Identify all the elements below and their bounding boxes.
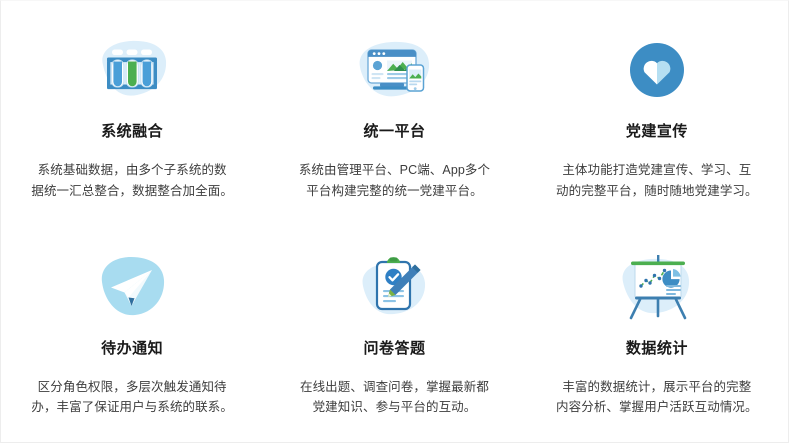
- feature-description-line: 据统一汇总整合，数据整合加全面。: [31, 181, 233, 202]
- feature-grid: 系统融合 系统基础数据，由多个子系统的数 据统一汇总整合，数据整合加全面。: [1, 1, 788, 442]
- feature-description: 系统由管理平台、PC端、App多个 平台构建完整的统一党建平台。: [299, 160, 490, 201]
- feature-description: 系统基础数据，由多个子系统的数 据统一汇总整合，数据整合加全面。: [31, 160, 233, 201]
- feature-card-unified-platform[interactable]: 统一平台 系统由管理平台、PC端、App多个 平台构建完整的统一党建平台。: [263, 1, 525, 222]
- feature-description-line: 动的完整平台，随时随地党建学习。: [556, 181, 758, 202]
- feature-card-todo-notification[interactable]: 待办通知 区分角色权限，多层次触发通知待 办，丰富了保证用户与系统的联系。: [1, 222, 263, 443]
- paper-plane-icon: [97, 250, 167, 324]
- feature-title: 统一平台: [363, 123, 425, 141]
- chart-easel-icon: [618, 250, 696, 324]
- unified-platform-devices-icon: [354, 33, 434, 107]
- feature-description-line: 区分角色权限，多层次触发通知待: [31, 377, 233, 398]
- heart-circle-icon: [628, 33, 686, 107]
- feature-description-line: 主体功能打造党建宣传、学习、互: [556, 160, 758, 181]
- feature-title: 数据统计: [626, 340, 688, 358]
- feature-description-line: 党建知识、参与平台的互动。: [300, 397, 489, 418]
- feature-description: 丰富的数据统计，展示平台的完整 内容分析、掌握用户活跃互动情况。: [556, 377, 758, 418]
- feature-description: 在线出题、调查问卷，掌握最新都 党建知识、参与平台的互动。: [300, 377, 489, 418]
- clipboard-check-pencil-icon: [358, 250, 430, 324]
- feature-description-line: 办，丰富了保证用户与系统的联系。: [31, 397, 233, 418]
- feature-description-line: 系统基础数据，由多个子系统的数: [31, 160, 233, 181]
- feature-description: 区分角色权限，多层次触发通知待 办，丰富了保证用户与系统的联系。: [31, 377, 233, 418]
- feature-title: 党建宣传: [626, 123, 688, 141]
- feature-description: 主体功能打造党建宣传、学习、互 动的完整平台，随时随地党建学习。: [556, 160, 758, 201]
- feature-description-line: 平台构建完整的统一党建平台。: [299, 181, 490, 202]
- feature-title: 问卷答题: [363, 340, 425, 358]
- feature-description-line: 丰富的数据统计，展示平台的完整: [556, 377, 758, 398]
- feature-card-data-statistics[interactable]: 数据统计 丰富的数据统计，展示平台的完整 内容分析、掌握用户活跃互动情况。: [526, 222, 788, 443]
- feature-card-questionnaire[interactable]: 问卷答题 在线出题、调查问卷，掌握最新都 党建知识、参与平台的互动。: [263, 222, 525, 443]
- feature-showcase-page: 系统融合 系统基础数据，由多个子系统的数 据统一汇总整合，数据整合加全面。: [0, 0, 789, 443]
- feature-card-party-publicity[interactable]: 党建宣传 主体功能打造党建宣传、学习、互 动的完整平台，随时随地党建学习。: [526, 1, 788, 222]
- feature-description-line: 系统由管理平台、PC端、App多个: [299, 160, 490, 181]
- feature-description-line: 内容分析、掌握用户活跃互动情况。: [556, 397, 758, 418]
- feature-title: 系统融合: [101, 123, 163, 141]
- feature-title: 待办通知: [101, 340, 163, 358]
- feature-card-system-integration[interactable]: 系统融合 系统基础数据，由多个子系统的数 据统一汇总整合，数据整合加全面。: [1, 1, 263, 222]
- feature-description-line: 在线出题、调查问卷，掌握最新都: [300, 377, 489, 398]
- test-tube-rack-icon: [93, 33, 171, 107]
